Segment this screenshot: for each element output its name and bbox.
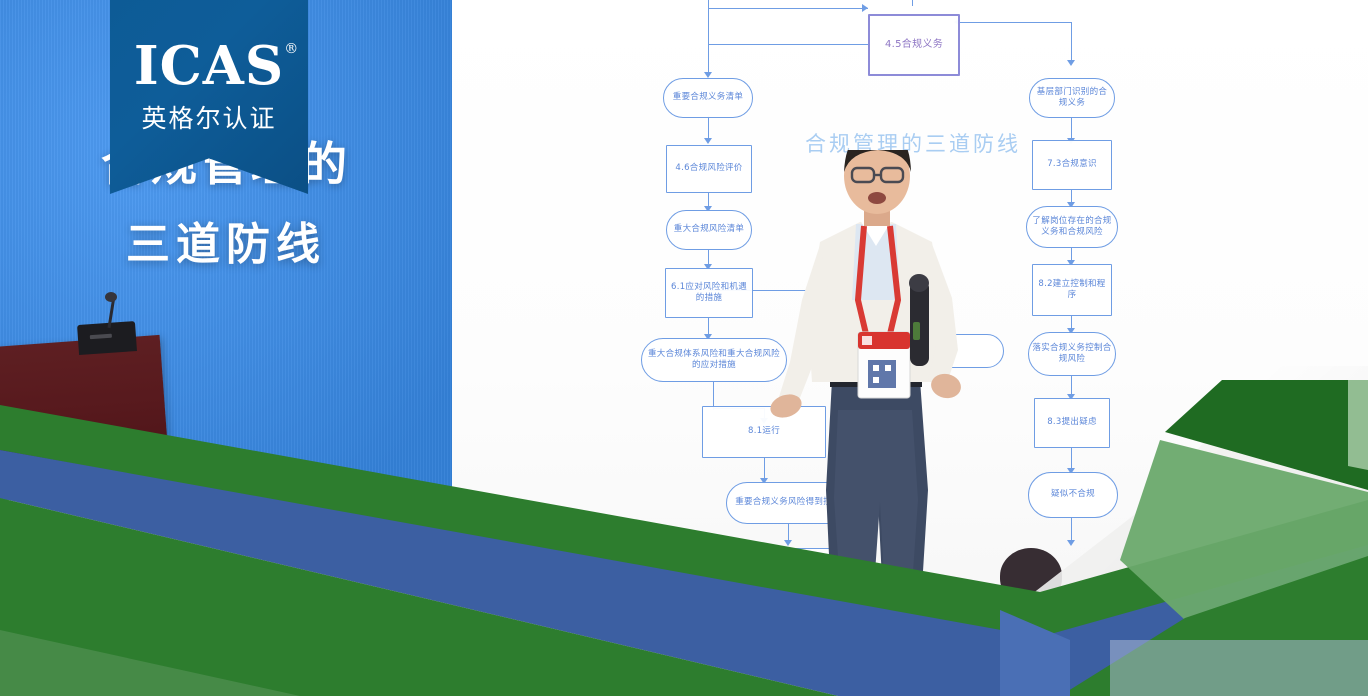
connector bbox=[708, 8, 868, 9]
connector bbox=[1071, 22, 1072, 62]
icas-text: ICAS bbox=[134, 35, 284, 97]
arrow-icon bbox=[862, 4, 868, 12]
overlay-light-blue-panel bbox=[1110, 640, 1368, 696]
icas-chinese-name: 英格尔认证 bbox=[110, 99, 308, 135]
flow-node-left-1: 重要合规义务清单 bbox=[663, 78, 753, 118]
screen-corner-shadow bbox=[1028, 366, 1368, 626]
flow-node-left-2: 4.6合规风险评价 bbox=[666, 145, 752, 193]
connector bbox=[912, 0, 913, 6]
presentation-photo: 合规管理的三道防线 4.5合规义务 重要合规义务清单 4.6合规风险评价 重大合… bbox=[0, 0, 1368, 696]
connector bbox=[708, 44, 868, 45]
flow-node-compliance-obligation: 4.5合规义务 bbox=[868, 14, 960, 76]
connector bbox=[708, 0, 709, 8]
flow-node-right-1: 基层部门识别的合规义务 bbox=[1029, 78, 1115, 118]
wall-headline-line2: 三道防线 bbox=[0, 208, 452, 272]
connector bbox=[708, 44, 709, 74]
arrow-icon bbox=[704, 138, 712, 144]
connector bbox=[960, 22, 1072, 23]
flow-node-right-2: 7.3合规意识 bbox=[1032, 140, 1112, 190]
flow-node-right-3: 了解岗位存在的合规义务和合规风险 bbox=[1026, 206, 1118, 248]
flow-node-left-3: 重大合规风险清单 bbox=[666, 210, 752, 250]
microphone-head-icon bbox=[105, 292, 117, 302]
connector bbox=[708, 8, 709, 44]
flow-node-right-4: 8.2建立控制和程序 bbox=[1032, 264, 1112, 316]
flow-node-left-4: 6.1应对风险和机遇的措施 bbox=[665, 268, 753, 318]
audience-head bbox=[1248, 536, 1308, 588]
speaker-figure bbox=[760, 150, 1010, 620]
audience-head bbox=[630, 538, 692, 592]
podium bbox=[0, 335, 169, 476]
registered-mark-icon: ® bbox=[284, 42, 299, 56]
icas-wordmark: ICAS® bbox=[134, 40, 284, 93]
connector bbox=[708, 116, 709, 140]
overlay-green-sliver bbox=[0, 630, 300, 696]
arrow-icon bbox=[1067, 60, 1075, 66]
